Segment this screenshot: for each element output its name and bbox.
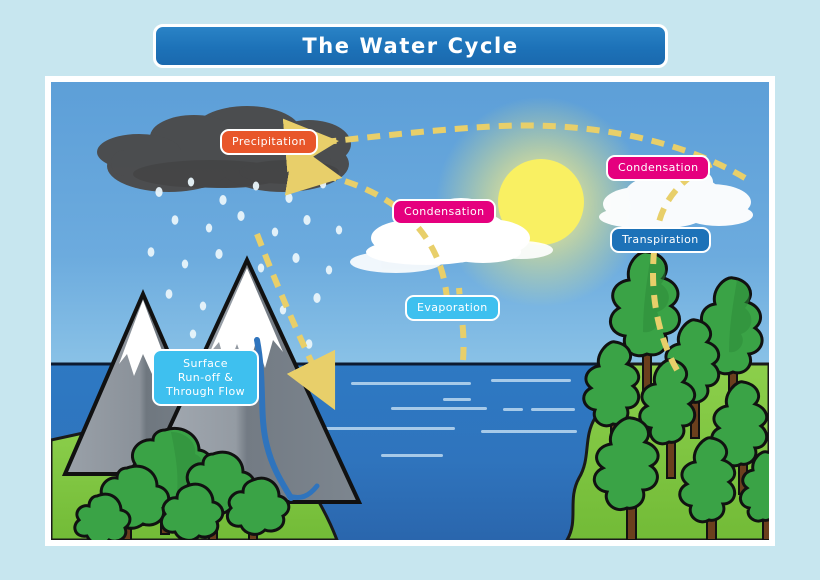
label-surface-runoff[interactable]: Surface Run-off & Through Flow: [152, 349, 259, 406]
poster-title-banner: The Water Cycle: [153, 24, 668, 68]
diagram-frame: Precipitation Condensation Condensation …: [45, 76, 775, 546]
label-condensation-left[interactable]: Condensation: [392, 199, 496, 225]
label-condensation-right[interactable]: Condensation: [606, 155, 710, 181]
water-cycle-scene: Precipitation Condensation Condensation …: [51, 82, 769, 540]
label-transpiration[interactable]: Transpiration: [610, 227, 711, 253]
label-surface-runoff-line2: Run-off &: [166, 371, 245, 385]
dashed-arrow-path: [653, 162, 717, 370]
dashed-arrow-path: [257, 234, 327, 394]
label-precipitation[interactable]: Precipitation: [220, 129, 318, 155]
page-title: The Water Cycle: [302, 34, 518, 58]
dashed-arrow-path: [307, 172, 447, 300]
water-cycle-poster: The Water Cycle: [0, 0, 820, 580]
label-evaporation[interactable]: Evaporation: [405, 295, 500, 321]
label-surface-runoff-line1: Surface: [166, 357, 245, 371]
label-surface-runoff-line3: Through Flow: [166, 385, 245, 399]
